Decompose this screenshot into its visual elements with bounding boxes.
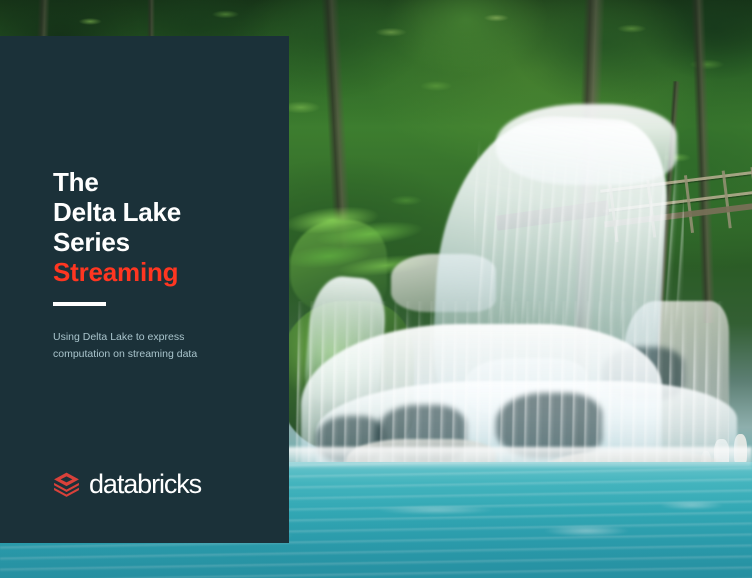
databricks-wordmark: databricks <box>89 471 201 498</box>
title-accent-line: Streaming <box>53 257 178 287</box>
title-divider <box>53 302 106 306</box>
title-line-1: The <box>53 167 99 197</box>
ebook-cover-page: TheDelta LakeSeriesStreaming Using Delta… <box>0 0 752 578</box>
cover-subtitle: Using Delta Lake to express computation … <box>53 329 243 363</box>
cover-title-panel: TheDelta LakeSeriesStreaming Using Delta… <box>0 36 289 543</box>
title-line-2: Delta Lake <box>53 197 181 227</box>
databricks-stacked-bricks-icon <box>53 471 80 498</box>
databricks-logo: databricks <box>53 471 201 498</box>
title-line-3: Series <box>53 227 130 257</box>
cover-panel-content: TheDelta LakeSeriesStreaming Using Delta… <box>0 36 289 543</box>
page-title: TheDelta LakeSeriesStreaming <box>53 167 181 287</box>
